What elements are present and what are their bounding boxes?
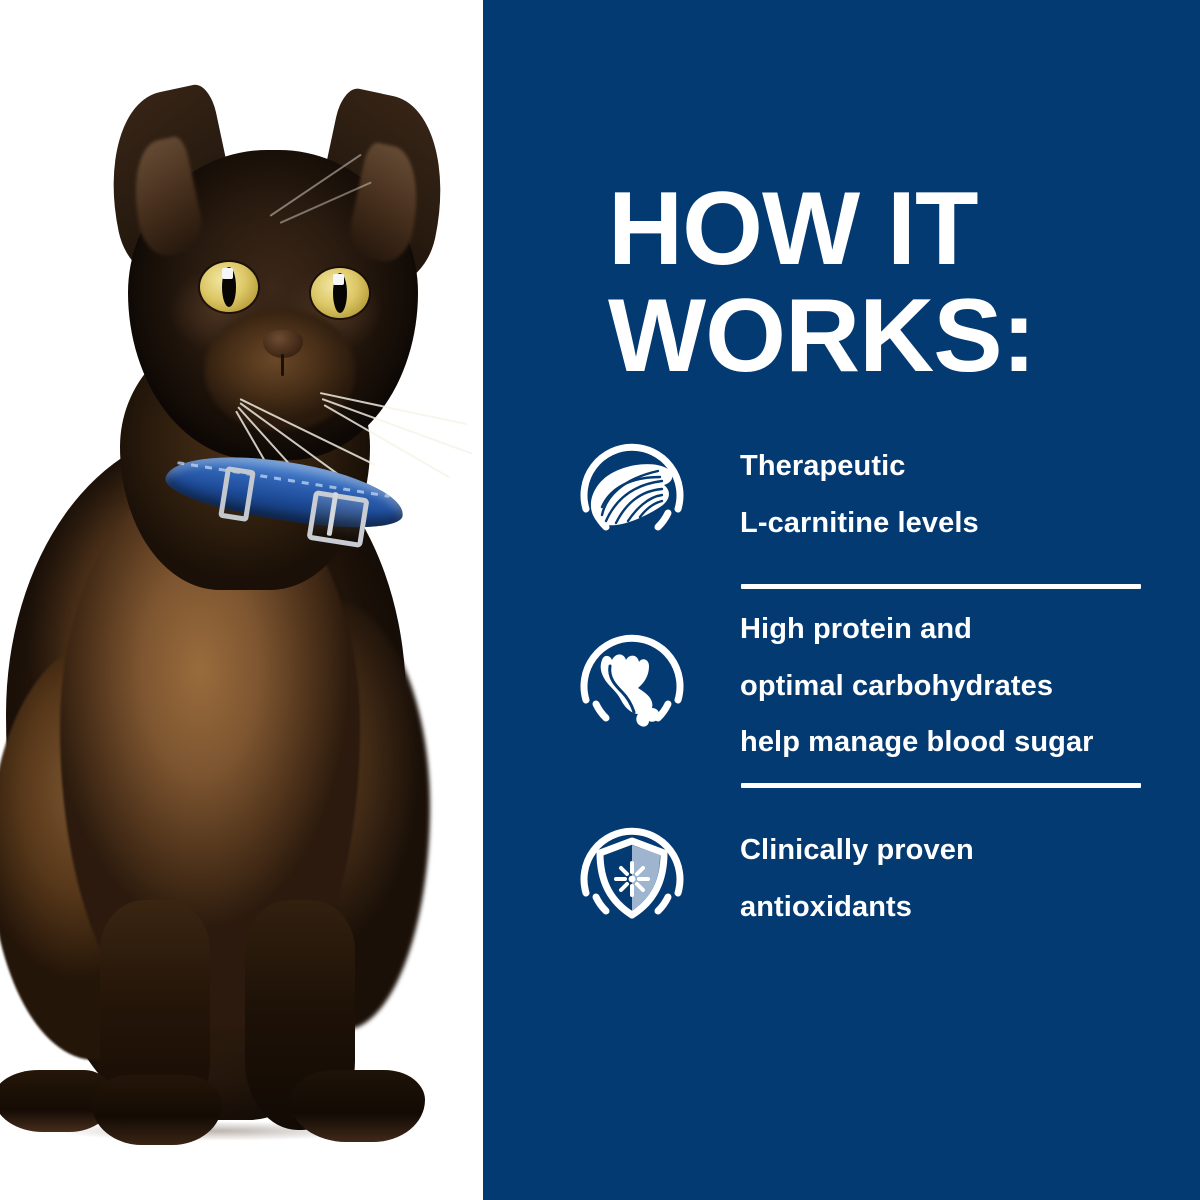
drumstick-meat-icon [566,620,698,752]
feature-list: Therapeutic L-carnitine levels High prot… [566,420,1166,954]
cat-illustration [0,0,560,1200]
shield-antioxidant-icon [566,813,698,945]
cat-ear-overlap [483,96,563,296]
cat-eye-glint-left [222,268,233,279]
cat-collar-buckle [306,490,369,548]
divider-2 [741,783,1141,788]
cat-paw-left [92,1075,222,1145]
page-title: HOW IT WORKS: [608,176,1168,390]
feature-item-protein: High protein and optimal carbohydrates h… [566,601,1166,771]
poster-root: HOW IT WORKS: [0,0,1200,1200]
feature-label: High protein and optimal carbohydrates h… [740,601,1094,771]
cat-philtrum [281,354,284,376]
feature-label: Clinically proven antioxidants [740,822,974,935]
muscle-fiber-icon [566,429,698,561]
cat-eye-glint-right [333,274,344,285]
cat-muzzle [205,310,355,430]
feature-item-l-carnitine: Therapeutic L-carnitine levels [566,420,1166,570]
divider-1 [741,584,1141,589]
feature-item-antioxidants: Clinically proven antioxidants [566,804,1166,954]
cat-photo [0,0,483,1200]
feature-label: Therapeutic L-carnitine levels [740,438,979,551]
cat-paw-right [290,1070,425,1142]
